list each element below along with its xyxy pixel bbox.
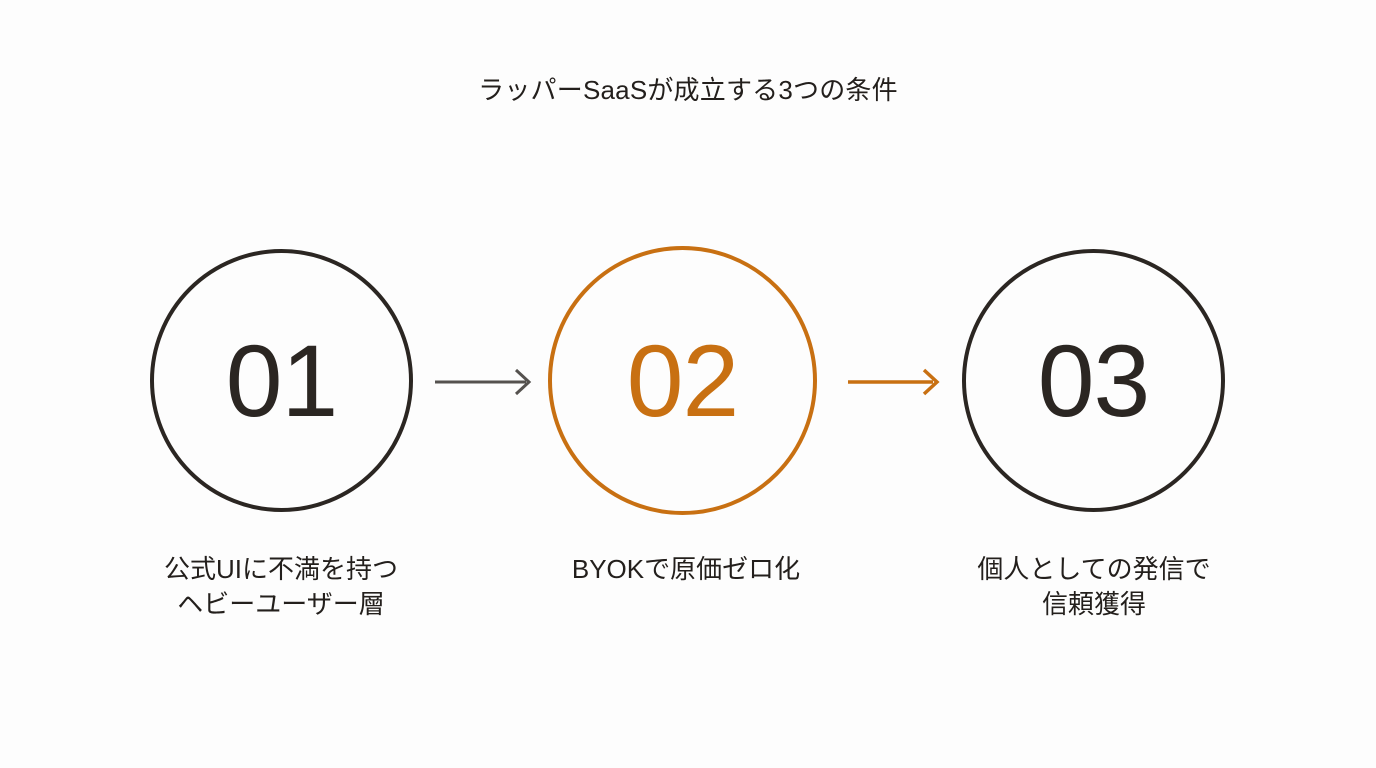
step-03-caption-line-1: 個人としての発信で xyxy=(884,552,1304,587)
step-02-caption: BYOKで原価ゼロ化 xyxy=(476,552,896,587)
step-03-circle[interactable]: 03 xyxy=(962,249,1225,512)
step-02-caption-line-1: BYOKで原価ゼロ化 xyxy=(476,552,896,587)
step-03[interactable]: 03 xyxy=(962,249,1225,512)
step-02-circle[interactable]: 02 xyxy=(548,246,817,515)
diagram-canvas: ラッパーSaaSが成立する3つの条件 01 公式UIに不満を持つ ヘビーユーザー… xyxy=(0,0,1376,768)
step-01-caption-line-2: ヘビーユーザー層 xyxy=(71,587,491,622)
step-03-caption-line-2: 信頼獲得 xyxy=(884,587,1304,622)
connector-02-to-03 xyxy=(841,360,951,409)
step-02[interactable]: 02 xyxy=(551,249,817,515)
connector-01-to-02 xyxy=(428,360,538,409)
arrow-right-icon xyxy=(428,360,538,404)
step-01-caption-line-1: 公式UIに不満を持つ xyxy=(71,552,491,587)
step-02-number: 02 xyxy=(627,330,738,432)
step-01-number: 01 xyxy=(226,330,337,432)
step-01-circle[interactable]: 01 xyxy=(150,249,413,512)
arrow-right-icon xyxy=(841,360,951,404)
step-01[interactable]: 01 xyxy=(150,249,413,512)
diagram-title: ラッパーSaaSが成立する3つの条件 xyxy=(0,74,1376,106)
step-01-caption: 公式UIに不満を持つ ヘビーユーザー層 xyxy=(71,552,491,622)
step-03-caption: 個人としての発信で 信頼獲得 xyxy=(884,552,1304,622)
step-03-number: 03 xyxy=(1038,330,1149,432)
